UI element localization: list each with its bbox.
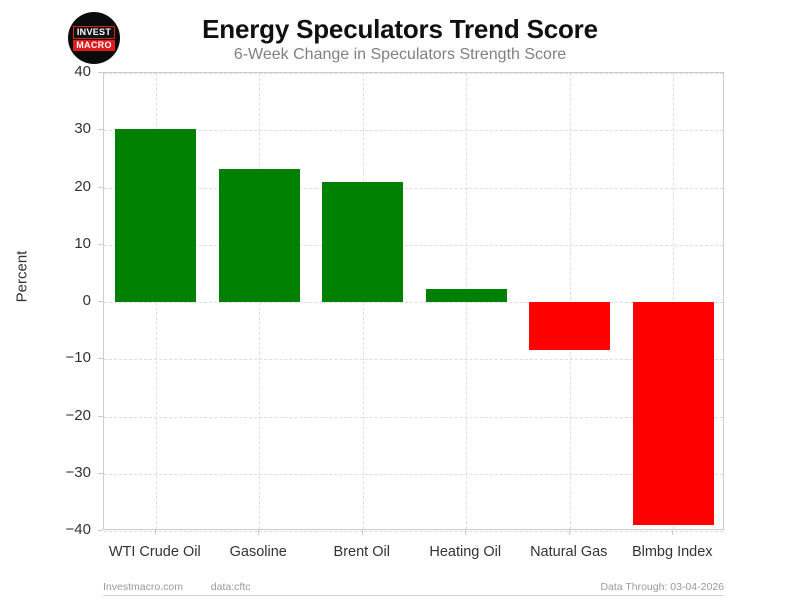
y-tick-label: −10 <box>45 349 91 366</box>
y-tick-mark <box>98 473 103 474</box>
y-tick-label: −20 <box>45 407 91 424</box>
x-tick-mark <box>362 530 363 535</box>
y-gridline <box>104 474 723 475</box>
x-tick-label: Natural Gas <box>530 544 607 560</box>
chart-title: Energy Speculators Trend Score <box>0 14 800 45</box>
y-gridline <box>104 73 723 74</box>
x-tick-label: Blmbg Index <box>632 544 713 560</box>
y-tick-label: 20 <box>45 178 91 195</box>
footer-source: data:cftc <box>211 581 251 593</box>
chart-subtitle: 6-Week Change in Speculators Strength Sc… <box>0 46 800 64</box>
y-tick-mark <box>98 244 103 245</box>
y-tick-label: 0 <box>45 292 91 309</box>
y-gridline <box>104 302 723 303</box>
y-tick-mark <box>98 187 103 188</box>
x-tick-label: WTI Crude Oil <box>109 544 201 560</box>
bar-natural-gas[interactable] <box>529 302 610 350</box>
plot-inner <box>104 73 723 529</box>
y-tick-mark <box>98 129 103 130</box>
y-tick-mark <box>98 416 103 417</box>
x-tick-label: Brent Oil <box>334 544 390 560</box>
footer-data-through: Data Through: 03-04-2026 <box>600 581 724 593</box>
plot-area <box>103 72 724 530</box>
y-tick-mark <box>98 72 103 73</box>
x-tick-mark <box>155 530 156 535</box>
y-tick-label: 40 <box>45 63 91 80</box>
x-tick-mark <box>465 530 466 535</box>
x-tick-label: Gasoline <box>230 544 287 560</box>
bar-heating-oil[interactable] <box>426 289 507 302</box>
y-tick-label: 10 <box>45 235 91 252</box>
y-tick-label: −40 <box>45 521 91 538</box>
y-tick-mark <box>98 358 103 359</box>
x-tick-mark <box>258 530 259 535</box>
footer-divider <box>103 595 724 596</box>
y-gridline <box>104 531 723 532</box>
footer-left: Investmacro.com data:cftc <box>103 581 251 593</box>
x-tick-label: Heating Oil <box>429 544 501 560</box>
bar-gasoline[interactable] <box>219 169 300 302</box>
y-axis-label: Percent <box>14 217 31 337</box>
y-gridline <box>104 188 723 189</box>
bar-brent-oil[interactable] <box>322 182 403 302</box>
y-tick-mark <box>98 301 103 302</box>
x-tick-mark <box>672 530 673 535</box>
bar-wti-crude-oil[interactable] <box>115 129 196 302</box>
y-gridline <box>104 359 723 360</box>
x-gridline <box>570 73 571 529</box>
x-tick-mark <box>569 530 570 535</box>
y-gridline <box>104 417 723 418</box>
y-gridline <box>104 245 723 246</box>
y-gridline <box>104 130 723 131</box>
y-tick-label: −30 <box>45 464 91 481</box>
chart-page: INVEST MACRO Energy Speculators Trend Sc… <box>0 0 800 600</box>
footer-site: Investmacro.com <box>103 581 183 593</box>
bar-blmbg-index[interactable] <box>633 302 714 525</box>
y-tick-label: 30 <box>45 120 91 137</box>
y-tick-mark <box>98 530 103 531</box>
